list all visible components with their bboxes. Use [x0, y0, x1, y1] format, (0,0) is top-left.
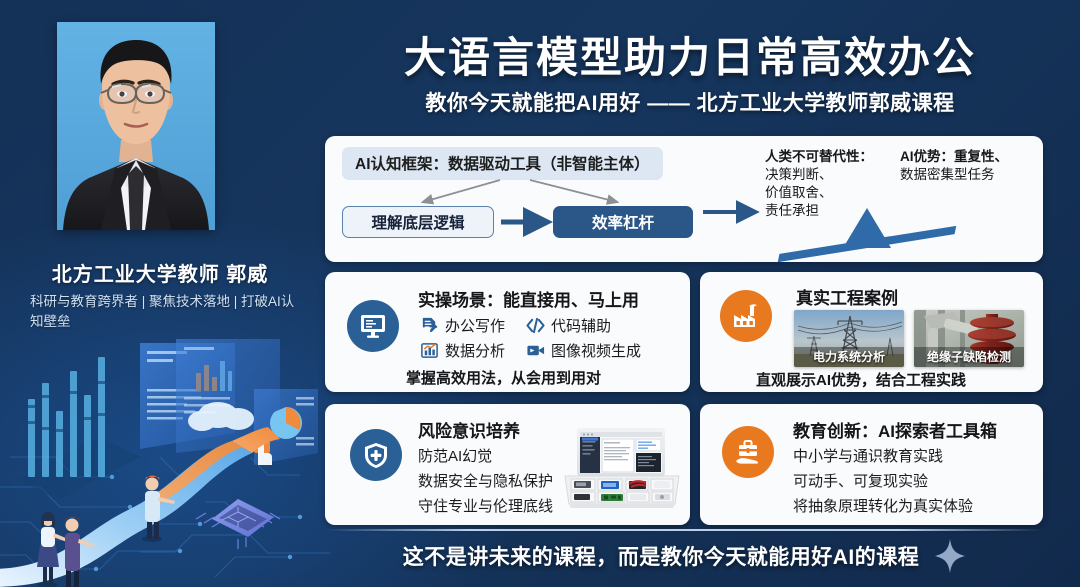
page-title: 大语言模型助力日常高效办公	[310, 24, 1070, 85]
bottom-banner: 这不是讲未来的课程，而是教你今天就能用好AI的课程	[325, 534, 1043, 578]
card-risk-title: 风险意识培养	[418, 417, 520, 442]
shield-icon	[350, 429, 402, 481]
seesaw-ai-line1: 数据密集型任务	[900, 167, 995, 182]
factory-icon	[720, 290, 772, 342]
framework-headline: AI认知框架：数据驱动工具（非智能主体）	[342, 147, 663, 180]
card-practical-footer: 掌握高效用法，从会用到用对	[406, 367, 601, 388]
isometric-tech-illustration	[0, 337, 330, 587]
card-education-innovation[interactable]: 教育创新：AI探索者工具箱 中小学与通识教育实践 可动手、可复现实验 将抽象原理…	[700, 404, 1043, 525]
feature-image-video-gen: 图像视频生成	[526, 340, 641, 361]
case-thumbnail-insulator[interactable]: 绝缘子缺陷检测	[914, 310, 1024, 367]
seesaw-human-line2: 价值取舍、	[765, 185, 833, 200]
seesaw-human-line1: 决策判断、	[765, 167, 833, 182]
feature-label: 数据分析	[445, 340, 505, 361]
feature-code-assist: 代码辅助	[526, 315, 611, 336]
framework-box-right: 效率杠杆	[553, 206, 693, 238]
instructor-tagline: 科研与教育跨界者 | 聚焦技术落地 | 打破AI认知壁垒	[30, 292, 298, 332]
card-cases-footer: 直观展示AI优势，结合工程实践	[756, 369, 966, 390]
card-risk-line-1: 防范AI幻觉	[418, 445, 492, 466]
case-caption: 电力系统分析	[794, 347, 904, 367]
sparkle-icon	[935, 539, 965, 573]
toolbox-hand-icon	[722, 426, 774, 478]
card-risk-line-2: 数据安全与隐私保护	[418, 470, 553, 491]
seesaw-human-line3: 责任承担	[765, 203, 819, 218]
seesaw-ai-label: AI优势：重复性、 数据密集型任务	[900, 148, 1008, 184]
card-engineering-cases[interactable]: 真实工程案例	[700, 272, 1043, 392]
seesaw-ai-title: AI优势：重复性、	[900, 149, 1008, 164]
banner-text: 这不是讲未来的课程，而是教你今天就能用好AI的课程	[403, 541, 920, 571]
video-camera-icon	[526, 341, 545, 360]
card-practical-title: 实操场景：能直接用、马上用	[418, 286, 639, 311]
page-subtitle: 教你今天就能把AI用好 —— 北方工业大学教师郭威课程	[310, 87, 1070, 117]
poster-root: 北方工业大学教师 郭威 科研与教育跨界者 | 聚焦技术落地 | 打破AI认知壁垒…	[0, 0, 1080, 587]
case-thumbnail-power-grid[interactable]: 电力系统分析	[794, 310, 904, 367]
card-practical-scenarios[interactable]: 实操场景：能直接用、马上用 办公写作 代码辅助	[325, 272, 690, 392]
code-brackets-icon	[526, 316, 545, 335]
bar-chart-icon	[420, 341, 439, 360]
feature-label: 办公写作	[445, 315, 505, 336]
card-edu-line-2: 可动手、可复现实验	[793, 470, 928, 491]
card-edu-title: 教育创新：AI探索者工具箱	[793, 417, 997, 442]
seesaw-human-label: 人类不可替代性： 决策判断、 价值取舍、 责任承担	[765, 148, 873, 220]
seesaw-human-title: 人类不可替代性：	[765, 149, 873, 164]
feature-office-writing: 办公写作	[420, 315, 505, 336]
avatar	[57, 22, 215, 230]
lab-kit-photo	[563, 424, 681, 508]
card-edu-line-3: 将抽象原理转化为真实体验	[793, 495, 973, 516]
feature-label: 代码辅助	[551, 315, 611, 336]
feature-label: 图像视频生成	[551, 340, 641, 361]
framework-panel: AI认知框架：数据驱动工具（非智能主体） 理解底层逻辑 效率杠杆 人类不可替代性…	[325, 136, 1043, 262]
card-risk-awareness[interactable]: 风险意识培养 防范AI幻觉 数据安全与隐私保护 守住专业与伦理底线	[325, 404, 690, 525]
case-caption: 绝缘子缺陷检测	[914, 347, 1024, 367]
monitor-icon	[347, 300, 399, 352]
card-risk-line-3: 守住专业与伦理底线	[418, 495, 553, 516]
banner-divider	[325, 529, 1043, 531]
document-edit-icon	[420, 316, 439, 335]
card-edu-line-1: 中小学与通识教育实践	[793, 445, 943, 466]
framework-box-left: 理解底层逻辑	[342, 206, 494, 238]
feature-data-analysis: 数据分析	[420, 340, 505, 361]
card-cases-title: 真实工程案例	[796, 284, 898, 309]
instructor-name: 北方工业大学教师 郭威	[0, 258, 320, 287]
